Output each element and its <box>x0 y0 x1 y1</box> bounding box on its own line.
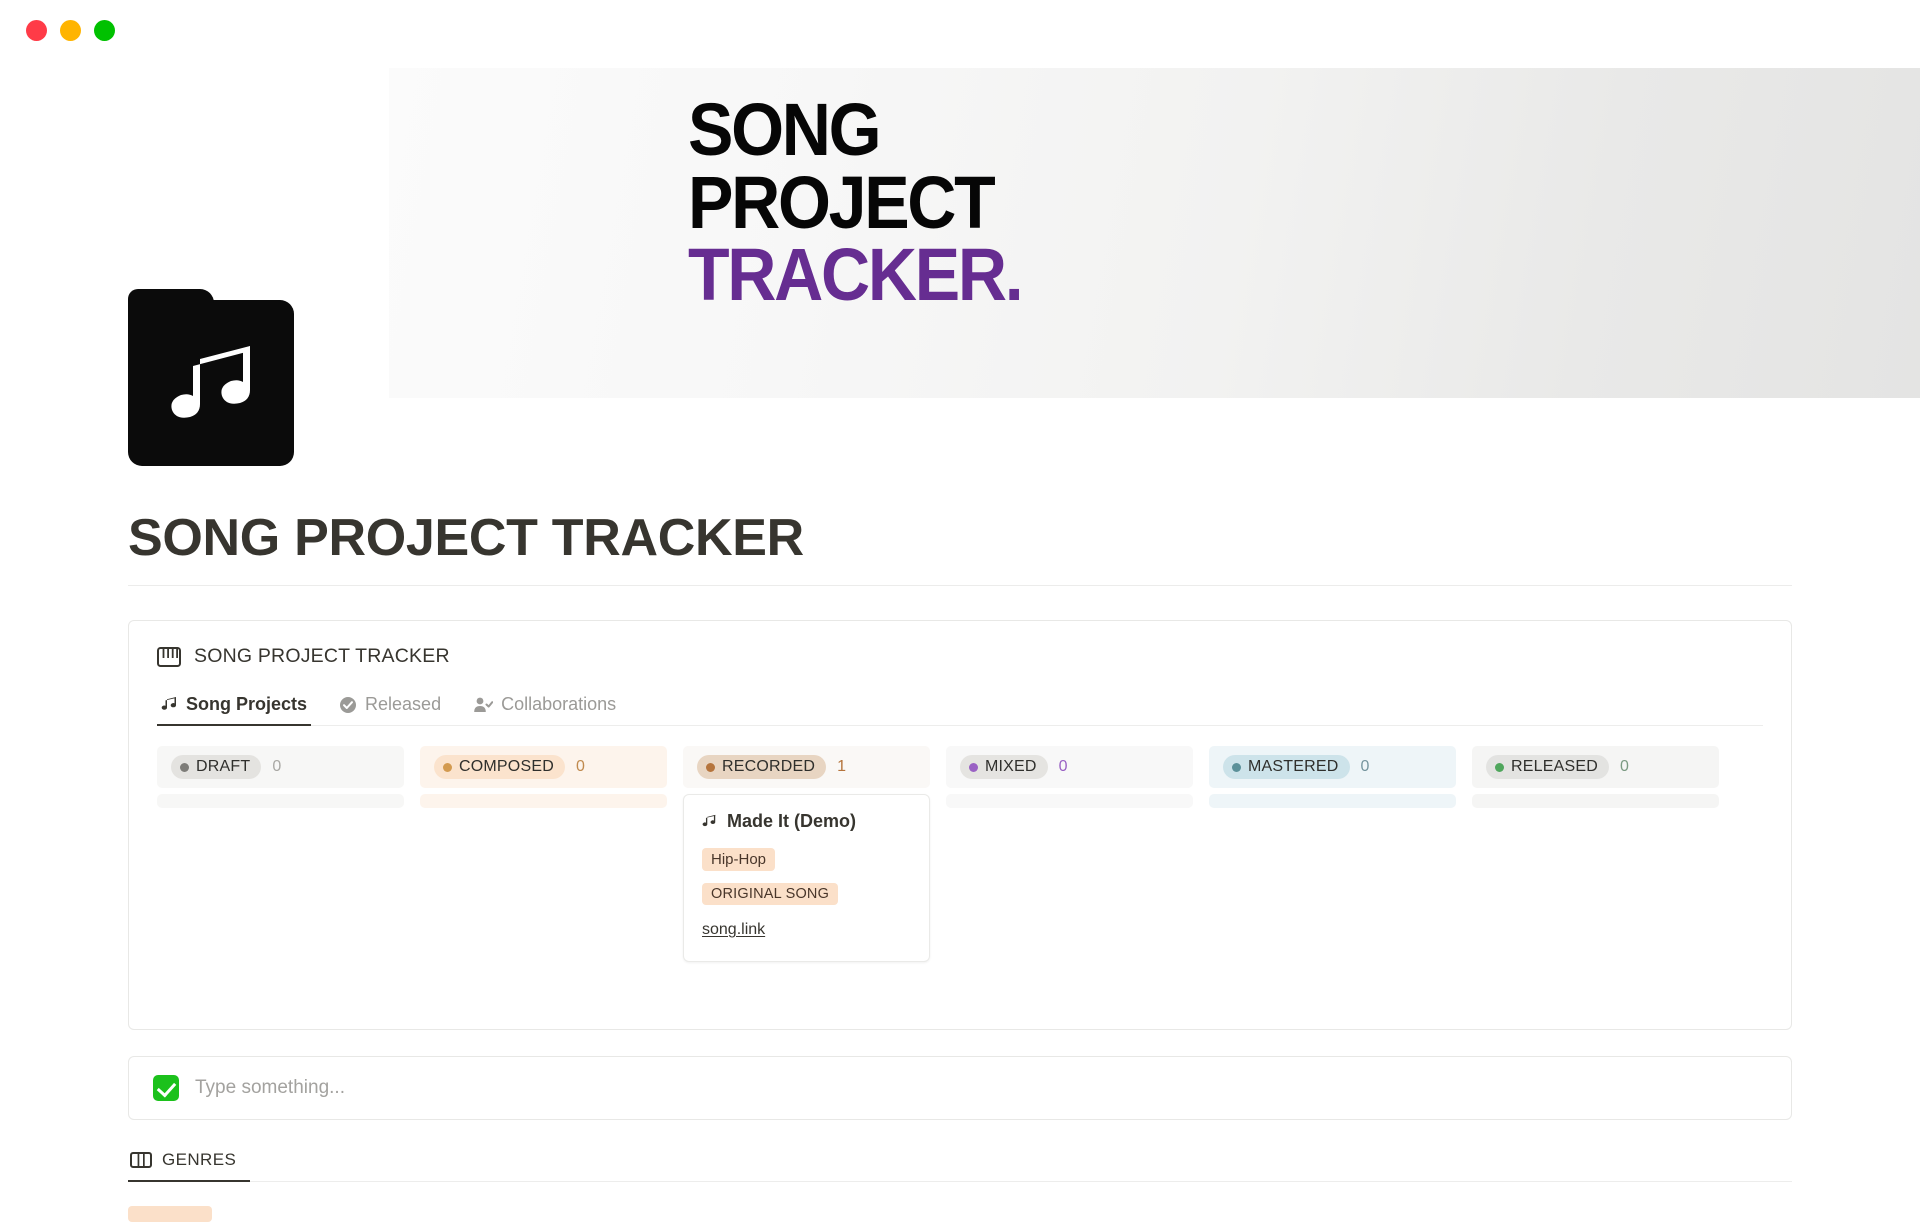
music-note-glyph <box>164 338 258 430</box>
tab-collaborations[interactable]: Collaborations <box>469 690 620 725</box>
database-card: SONG PROJECT TRACKER Song Projects <box>128 620 1792 1030</box>
page-title: SONG PROJECT TRACKER <box>128 510 1792 567</box>
piano-keyboard-icon <box>157 646 181 668</box>
music-note-icon <box>161 696 178 713</box>
column-header[interactable]: DRAFT 0 <box>157 746 404 788</box>
title-divider <box>128 585 1792 586</box>
status-badge-mixed: MIXED <box>960 755 1048 779</box>
board-column-recorded: RECORDED 1 <box>683 746 930 962</box>
composer-input-bar[interactable]: Type something... <box>128 1056 1792 1120</box>
page-root: SONG PROJECT TRACKER SONG PROJECT TRACKE… <box>0 0 1920 1200</box>
genres-content-row <box>128 1182 1792 1227</box>
board-column-mixed: MIXED 0 <box>946 746 1193 808</box>
board-columns-icon <box>130 1151 152 1169</box>
column-body <box>946 794 1193 808</box>
column-body: Made It (Demo) Hip-Hop ORIGINAL SONG son… <box>683 794 930 962</box>
song-card-title-row: Made It (Demo) <box>702 811 911 832</box>
status-dot <box>1495 763 1504 772</box>
status-dot <box>443 763 452 772</box>
tab-released-label: Released <box>365 694 441 715</box>
database-header: SONG PROJECT TRACKER <box>157 645 1763 668</box>
tab-genres-label: GENRES <box>162 1150 236 1170</box>
window-title-bar <box>0 0 1920 60</box>
status-label: RECORDED <box>722 758 815 776</box>
status-label: COMPOSED <box>459 758 554 776</box>
column-drop-strip <box>946 794 1193 808</box>
column-header[interactable]: MASTERED 0 <box>1209 746 1456 788</box>
column-count: 0 <box>576 758 585 776</box>
status-dot <box>969 763 978 772</box>
tab-released[interactable]: Released <box>335 690 445 725</box>
status-badge-recorded: RECORDED <box>697 755 826 779</box>
white-check-mark-emoji-icon <box>153 1075 179 1101</box>
column-body <box>1209 794 1456 808</box>
column-header[interactable]: RECORDED 1 <box>683 746 930 788</box>
song-card[interactable]: Made It (Demo) Hip-Hop ORIGINAL SONG son… <box>683 794 930 962</box>
song-tag-genre-row: Hip-Hop <box>702 848 911 883</box>
board-column-released: RELEASED 0 <box>1472 746 1719 808</box>
status-dot <box>180 763 189 772</box>
column-count: 0 <box>272 758 281 776</box>
status-dot <box>706 763 715 772</box>
check-circle-icon <box>339 696 357 714</box>
column-body <box>157 794 404 808</box>
tab-genres[interactable]: GENRES <box>128 1146 250 1181</box>
song-title: Made It (Demo) <box>727 811 856 832</box>
kanban-board: DRAFT 0 COMPOSED 0 <box>157 746 1763 962</box>
tab-song-projects-label: Song Projects <box>186 694 307 715</box>
column-count: 1 <box>837 758 846 776</box>
person-check-icon <box>473 696 493 714</box>
board-column-draft: DRAFT 0 <box>157 746 404 808</box>
column-count: 0 <box>1361 758 1370 776</box>
song-tag-genre: Hip-Hop <box>702 848 775 871</box>
status-label: MASTERED <box>1248 758 1339 776</box>
composer-placeholder: Type something... <box>195 1077 345 1099</box>
column-header[interactable]: COMPOSED 0 <box>420 746 667 788</box>
database-title: SONG PROJECT TRACKER <box>194 645 450 668</box>
minimize-window-button[interactable] <box>60 20 81 41</box>
status-label: DRAFT <box>196 758 250 776</box>
song-tag-type: ORIGINAL SONG <box>702 883 838 905</box>
genres-section: GENRES <box>128 1146 1792 1227</box>
board-column-mastered: MASTERED 0 <box>1209 746 1456 808</box>
column-body <box>420 794 667 808</box>
genre-chip[interactable] <box>128 1206 212 1222</box>
status-label: MIXED <box>985 758 1037 776</box>
status-dot <box>1232 763 1241 772</box>
column-drop-strip <box>157 794 404 808</box>
status-label: RELEASED <box>1511 758 1598 776</box>
tab-collaborations-label: Collaborations <box>501 694 616 715</box>
close-window-button[interactable] <box>26 20 47 41</box>
column-header[interactable]: MIXED 0 <box>946 746 1193 788</box>
status-badge-draft: DRAFT <box>171 755 261 779</box>
column-drop-strip <box>1472 794 1719 808</box>
song-tag-type-row: ORIGINAL SONG <box>702 883 911 917</box>
status-badge-composed: COMPOSED <box>434 755 565 779</box>
maximize-window-button[interactable] <box>94 20 115 41</box>
genres-tabs: GENRES <box>128 1146 1792 1182</box>
column-drop-strip <box>420 794 667 808</box>
column-drop-strip <box>1209 794 1456 808</box>
music-folder-icon[interactable] <box>128 300 294 466</box>
song-link[interactable]: song.link <box>702 921 765 939</box>
folder-tab-shape <box>128 289 214 315</box>
board-column-composed: COMPOSED 0 <box>420 746 667 808</box>
tab-song-projects[interactable]: Song Projects <box>157 690 311 725</box>
column-body <box>1472 794 1719 808</box>
column-count: 0 <box>1620 758 1629 776</box>
column-count: 0 <box>1059 758 1068 776</box>
music-note-icon <box>702 814 717 829</box>
database-view-tabs: Song Projects Released <box>157 690 1763 726</box>
column-header[interactable]: RELEASED 0 <box>1472 746 1719 788</box>
status-badge-released: RELEASED <box>1486 755 1609 779</box>
status-badge-mastered: MASTERED <box>1223 755 1350 779</box>
